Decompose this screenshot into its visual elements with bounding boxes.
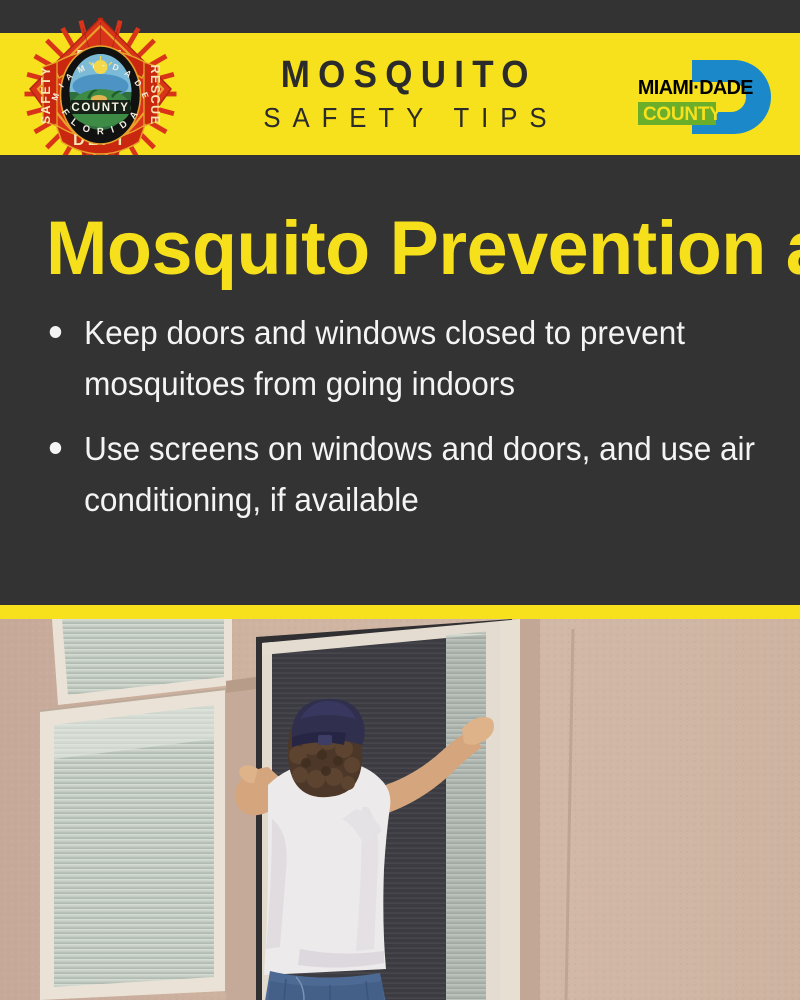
svg-text:COUNTY: COUNTY (71, 102, 129, 114)
man-installing-window-screen-photo (0, 619, 800, 1000)
list-item-text: Use screens on windows and doors, and us… (84, 430, 755, 518)
svg-text:MIAMI·DADE: MIAMI·DADE (638, 77, 753, 99)
content-panel: Mosquito Prevention at Home Keep doors a… (0, 155, 800, 605)
mosquito-safety-tips-poster: MOSQUITO SAFETY TIPS (0, 0, 800, 1000)
list-item: Use screens on windows and doors, and us… (44, 423, 755, 525)
banner-title: MOSQUITO (273, 56, 537, 94)
page-title: Mosquito Prevention at Home (46, 211, 800, 287)
bullet-dot-icon (50, 326, 61, 338)
list-item: Keep doors and windows closed to prevent… (44, 307, 755, 409)
banner-title-block: MOSQUITO SAFETY TIPS (200, 33, 610, 155)
list-item-text: Keep doors and windows closed to prevent… (84, 314, 685, 402)
banner-subtitle: SAFETY TIPS (251, 104, 558, 132)
svg-text:COUNTY: COUNTY (643, 104, 722, 125)
miami-dade-county-logo-icon: MIAMI·DADE COUNTY (630, 58, 780, 136)
bullet-dot-icon (50, 442, 61, 454)
yellow-divider (0, 605, 800, 619)
fire-department-badge-icon: FIRE FIRE SAFETY RESCUE DEPT (23, 12, 178, 175)
safety-tips-list: Keep doors and windows closed to prevent… (44, 307, 789, 540)
